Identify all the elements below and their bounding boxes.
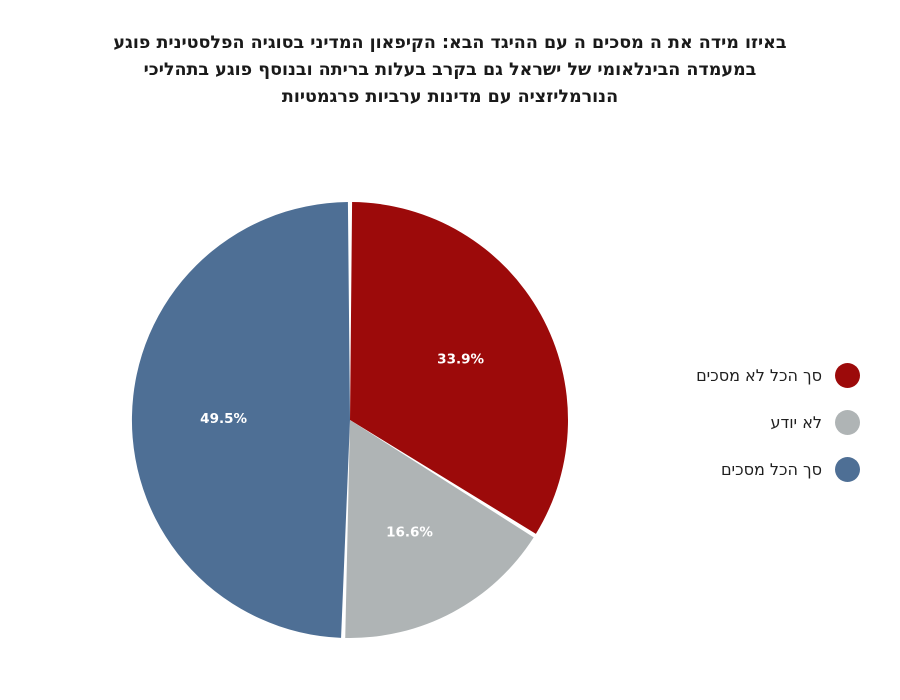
legend-marker-wrap-1 bbox=[824, 410, 870, 435]
pie-slice-label-2: 49.5% bbox=[200, 411, 247, 427]
plot-area: 33.9%16.6%49.5% bbox=[0, 170, 700, 670]
circle-marker-icon-0 bbox=[835, 363, 860, 388]
circle-marker-icon-1 bbox=[835, 410, 860, 435]
legend-item-2[interactable]: סך הכל מסכים bbox=[620, 446, 870, 493]
pie-svg: 33.9%16.6%49.5% bbox=[0, 170, 700, 670]
pie-chart-figure: באיזו מידה את ה מסכים ה עם ההיגד הבא: הק… bbox=[0, 0, 900, 700]
legend-item-1[interactable]: לא יודע bbox=[620, 399, 870, 446]
legend-item-0[interactable]: סך הכל לא מסכים bbox=[620, 352, 870, 399]
legend-marker-wrap-2 bbox=[824, 457, 870, 482]
pie-slice-label-1: 16.6% bbox=[386, 525, 433, 541]
legend-label-0: סך הכל לא מסכים bbox=[696, 366, 824, 386]
chart-title: באיזו מידה את ה מסכים ה עם ההיגד הבא: הק… bbox=[28, 30, 872, 111]
chart-title-line-2: במעמדה הבינלאומי של ישראל גם בקרב בעלות … bbox=[28, 57, 872, 84]
legend-marker-wrap-0 bbox=[824, 363, 870, 388]
pie-slice-label-0: 33.9% bbox=[437, 352, 484, 368]
legend-label-2: סך הכל מסכים bbox=[721, 460, 824, 480]
legend-label-1: לא יודע bbox=[770, 413, 824, 433]
chart-legend: סך הכל לא מסכים לא יודע סך הכל מסכים bbox=[620, 352, 870, 493]
chart-title-line-1: באיזו מידה את ה מסכים ה עם ההיגד הבא: הק… bbox=[28, 30, 872, 57]
chart-title-line-3: הנורמליזציה עם מדינות ערביות פרגמטיות bbox=[28, 84, 872, 111]
pie-slices-group bbox=[132, 202, 568, 638]
circle-marker-icon-2 bbox=[835, 457, 860, 482]
